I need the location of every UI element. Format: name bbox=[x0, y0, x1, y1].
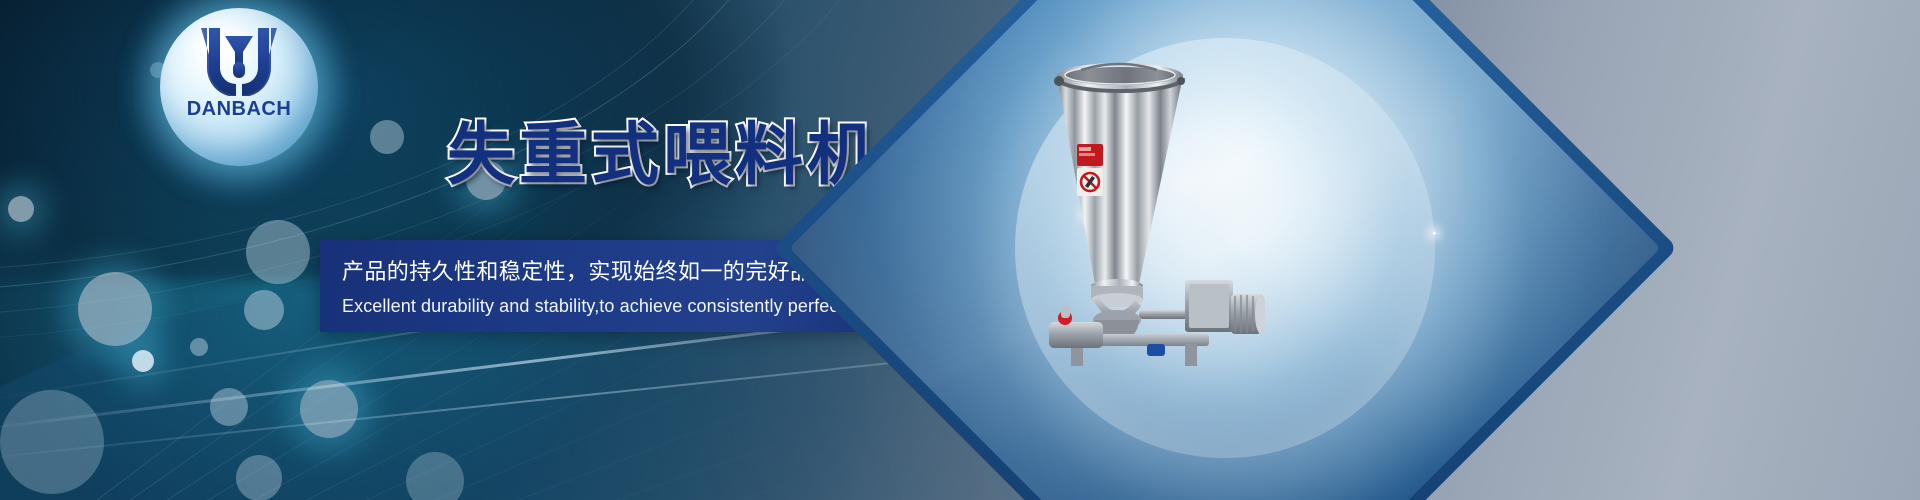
bokeh-circle-icon bbox=[78, 272, 152, 346]
loss-in-weight-feeder-photo bbox=[1035, 48, 1265, 368]
bokeh-circle-icon bbox=[244, 290, 284, 330]
bokeh-circle-icon bbox=[300, 380, 358, 438]
bokeh-circle-icon bbox=[132, 350, 154, 372]
subtitle-english: Excellent durability and stability,to ac… bbox=[342, 296, 870, 317]
bokeh-circle-icon bbox=[370, 120, 404, 154]
page-title: 失重式喂料机 bbox=[447, 122, 879, 190]
feeder-machine-icon bbox=[1035, 48, 1265, 368]
sparkle-icon bbox=[1433, 231, 1436, 234]
bokeh-circle-icon bbox=[190, 338, 208, 356]
danbach-monogram-icon bbox=[193, 22, 285, 96]
logo-mark: DANBACH bbox=[160, 22, 318, 121]
bokeh-circle-icon bbox=[246, 220, 310, 284]
bokeh-circle-icon bbox=[0, 390, 104, 494]
bokeh-circle-icon bbox=[8, 196, 34, 222]
logo-wordmark: DANBACH bbox=[187, 98, 292, 121]
product-hero-banner: DANBACH 失重式喂料机 产品的持久性和稳定性，实现始终如一的完好品质! E… bbox=[0, 0, 1920, 500]
brand-logo[interactable]: DANBACH bbox=[160, 8, 318, 166]
bokeh-circle-icon bbox=[210, 388, 248, 426]
bokeh-circle-icon bbox=[236, 455, 282, 500]
